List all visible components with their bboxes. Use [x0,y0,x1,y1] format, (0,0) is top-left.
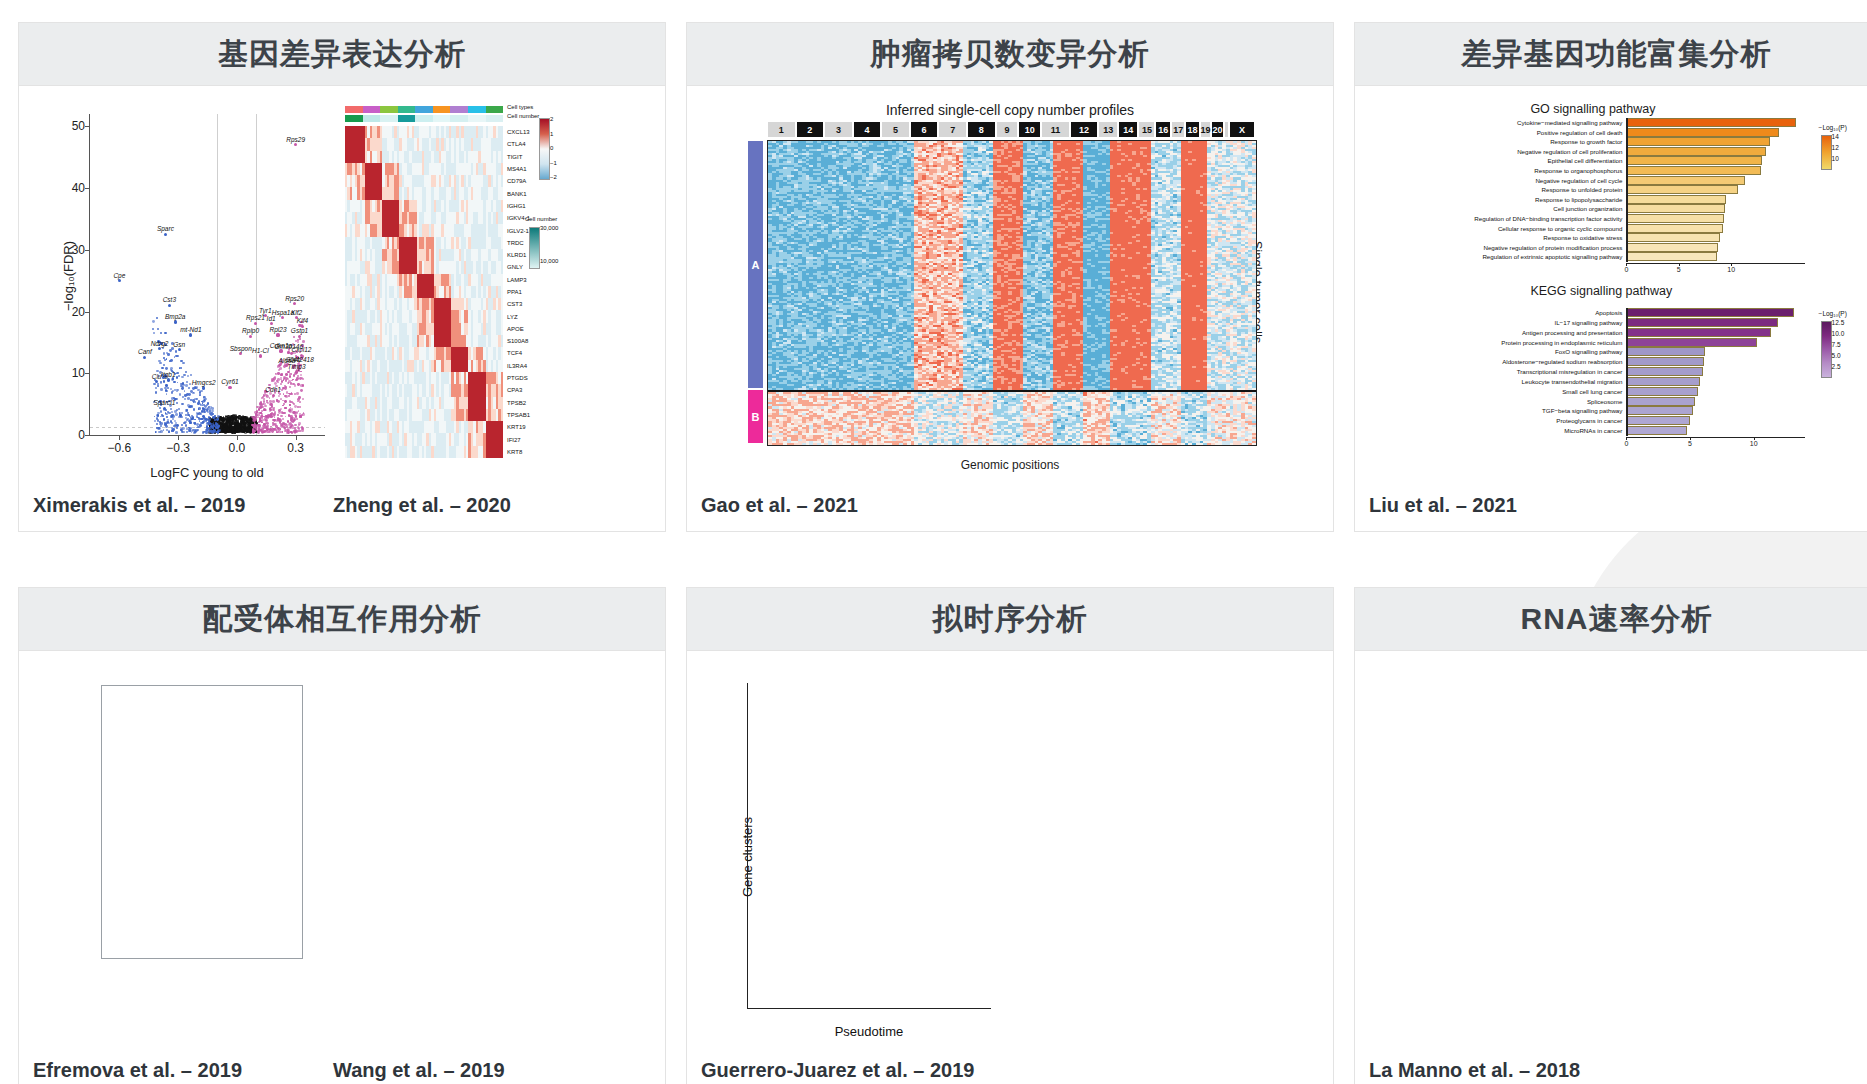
volcano-point [190,422,192,424]
volcano-point [300,374,302,376]
citation-wang: Wang et al. – 2019 [333,1059,505,1082]
volcano-gene-label: Canf [138,348,152,355]
heatmap-row-label: CPA3 [507,387,522,393]
enrichment-category-label: Response to lipopolysaccharide [1535,195,1622,204]
heatmap-cell [501,151,504,163]
volcano-point [190,390,193,393]
cnv-heatmap-matrix [767,140,1257,446]
volcano-labeled-point [239,352,242,355]
card-title: 配受体相互作用分析 [203,599,482,640]
heatmap-row-label: BANK1 [507,191,527,197]
heatmap-row-label: LAMP3 [507,277,527,283]
chromosome-tick: 18 [1185,121,1199,138]
enrichment-x-tick: 10 [1727,266,1735,273]
volcano-point [193,422,195,424]
enrichment-colorbar [1821,135,1832,170]
enrichment-category-label: Transcriptional misregulation in cancer [1517,367,1623,376]
volcano-x-tick: 0.0 [229,441,246,455]
volcano-point [160,332,162,334]
volcano-point [259,412,261,414]
annotation-label-cell-types: Cell types [507,104,533,110]
pseudotime-kinetics-figure [1007,661,1319,1053]
citation-zheng: Zheng et al. – 2020 [333,494,511,517]
volcano-point [294,424,296,426]
volcano-point [297,383,299,385]
enrichment-bar[interactable] [1626,166,1760,175]
enrichment-bar[interactable] [1626,128,1779,137]
volcano-point [245,428,247,430]
volcano-point [187,404,190,407]
enrichment-bar[interactable] [1626,243,1717,252]
enrichment-legend-tick: 14 [1832,133,1839,140]
enrichment-category-label: Response to unfolded protein [1542,185,1623,194]
chromosome-tick: 4 [853,121,882,138]
enrichment-bar-row: Response to lipopolysaccharide [1626,195,1804,204]
volcano-gene-label: Cpe [113,271,125,278]
volcano-point [294,393,296,395]
volcano-point [165,389,167,391]
enrichment-bar-row: Negative regulation of protein modificat… [1626,243,1804,252]
volcano-point [170,420,172,422]
cell-number-tick: 30,000 [540,225,558,231]
volcano-gene-label: Clu [152,372,162,379]
heatmap-cell [501,310,504,322]
volcano-point [178,416,181,419]
volcano-gene-label: Id1 [267,314,276,321]
volcano-point [297,406,299,408]
volcano-point [208,420,210,422]
heatmap-cell [501,237,504,249]
volcano-point [166,393,168,395]
heatmap-row-label: MS4A1 [507,166,527,172]
volcano-point [181,376,184,379]
enrichment-bar[interactable] [1626,147,1765,156]
volcano-point [280,423,282,425]
volcano-point [264,405,267,408]
volcano-point [296,392,298,394]
chromosome-tick: 1 [767,121,796,138]
volcano-point [263,395,266,398]
volcano-gene-label: Gsn [173,340,185,347]
volcano-point [208,406,210,408]
enrichment-bar[interactable] [1626,195,1726,204]
enrichment-bar[interactable] [1626,233,1719,242]
cluster-divider [768,390,1256,392]
card-header: 肿瘤拷贝数变异分析 [687,23,1333,86]
volcano-point [296,418,298,420]
enrichment-colorbar [1821,321,1832,378]
card-ligand-receptor-interaction[interactable]: 配受体相互作用分析 Efremova et al. – 2019 Wang et… [18,587,666,1084]
volcano-point [265,409,267,411]
heatmap-row-label: CD79A [507,178,526,184]
volcano-point [273,429,275,431]
marker-gene-heatmap: Cell types Cell number CXCL13CTLA4TIGITM… [339,96,651,488]
volcano-point [187,375,189,377]
volcano-labeled-point [163,407,166,410]
volcano-point [224,425,226,427]
volcano-gene-label: Hmgcs2 [192,379,216,386]
enrichment-legend-title: −Log₁₀(P) [1819,310,1847,317]
volcano-point [199,394,201,396]
volcano-labeled-point [276,333,279,336]
volcano-point [155,391,157,393]
volcano-point [163,352,165,354]
volcano-point [280,428,282,430]
volcano-labeled-point [281,316,284,319]
enrichment-x-tick: 5 [1677,266,1681,273]
heatmap-row-label: IGHG1 [507,203,526,209]
cell-number-swatch [468,115,486,122]
enrichment-bar-row: Negative regulation of cell proliferatio… [1626,147,1804,156]
enrichment-bar[interactable] [1626,347,1705,356]
volcano-gene-label: Rpl23 [270,325,287,332]
chromosome-tick: X [1229,121,1255,138]
volcano-point [181,412,184,415]
heatmap-cell [501,200,504,212]
enrichment-legend-tick: 7.5 [1832,341,1841,348]
expression-colorbar-tick: 0 [550,145,553,151]
enrichment-legend-tick: 10.0 [1832,330,1845,337]
volcano-point [269,397,271,399]
volcano-point [165,367,168,370]
volcano-point [234,431,237,434]
figure-row: GO signalling pathway Cytokine−mediated … [1369,96,1864,488]
card-body: −log₁₀(FDR) LogFC young to old 010203040… [19,86,665,494]
volcano-point [161,367,164,370]
heatmap-row-label: TCF4 [507,350,522,356]
volcano-gene-label: H1-Cl [252,346,269,353]
volcano-point [218,418,220,420]
volcano-gene-label: Sparcl1 [153,399,175,406]
citation-la-manno: La Manno et al. – 2018 [1369,1059,1580,1082]
enrichment-bar[interactable] [1626,338,1757,347]
volcano-gene-label: Cyr61 [221,378,238,385]
enrichment-x-tick: 0 [1624,440,1628,447]
panel-grid: 基因差异表达分析 −log₁₀(FDR) LogFC young to old … [0,0,1867,1084]
volcano-point [188,387,190,389]
cell-number-swatch [486,115,504,122]
volcano-point [278,395,280,397]
volcano-point [175,431,178,434]
volcano-gene-label: Sbspon [230,344,252,351]
volcano-point [194,419,196,421]
enrichment-bar-row: Spliceosome [1626,397,1804,406]
chromosome-tick: 12 [1070,121,1099,138]
cell-types-annotation-bar [345,106,503,113]
heatmap-cell [501,249,504,261]
volcano-point [177,382,179,384]
cell-type-swatch [345,106,363,113]
enrichment-bar[interactable] [1626,328,1771,337]
enrichment-bar[interactable] [1626,318,1777,327]
card-tumor-copy-number-variation[interactable]: 肿瘤拷贝数变异分析 Inferred single-cell copy numb… [686,22,1334,532]
volcano-point [158,431,161,434]
volcano-point [294,419,296,421]
enrichment-x-axis [1626,263,1804,264]
enrichment-category-label: Cellular response to organic cyclic comp… [1498,224,1623,233]
volcano-point [298,369,300,371]
cell-type-swatch [363,106,381,113]
cnv-figure: Inferred single-cell copy number profile… [701,96,1319,488]
enrichment-bar[interactable] [1626,367,1702,376]
heatmap-row-label: KRT8 [507,449,522,455]
card-body: Inferred single-cell copy number profile… [687,86,1333,494]
volcano-point [277,381,279,383]
enrichment-bar[interactable] [1626,426,1687,435]
cell-number-swatch [450,115,468,122]
heatmap-cell [501,187,504,199]
volcano-point [163,380,166,383]
chromosome-tick: 7 [938,121,967,138]
volcano-point [261,429,263,431]
go-chart-title: GO signalling pathway [1530,102,1655,116]
cell-type-swatch [415,106,433,113]
card-pseudotime-analysis[interactable]: 拟时序分析 Gene clusters Pseudotime [686,587,1334,1084]
volcano-point [158,427,161,430]
card-header: 差异基因功能富集分析 [1355,23,1867,86]
heatmap-row-label: PTGDS [507,375,528,381]
heatmap-row-label: TIGIT [507,154,522,160]
volcano-point [156,423,158,425]
volcano-point [168,431,170,433]
volcano-point [200,404,202,406]
heatmap-cell [501,138,504,150]
volcano-point [171,430,173,432]
volcano-gene-label: Tyr1 [259,306,272,313]
volcano-point [291,380,293,382]
enrichment-category-label: Cytokine−mediated signalling pathway [1517,118,1622,127]
volcano-point [260,406,263,409]
enrichment-bar[interactable] [1626,357,1704,366]
volcano-point [186,381,188,383]
enrichment-bar[interactable] [1626,377,1700,386]
cell-number-annotation-bar [345,115,503,122]
volcano-point [201,410,203,412]
cell-type-swatch [450,106,468,113]
volcano-x-tick: 0.3 [287,441,304,455]
heatmap-row-label: S100A8 [507,338,528,344]
chromosome-tick: 6 [910,121,939,138]
cluster-band-b: B [747,389,764,444]
volcano-x-tick: −0.6 [108,441,132,455]
enrichment-x-tick: 5 [1688,440,1692,447]
enrichment-bar[interactable] [1626,118,1796,127]
volcano-point [197,426,199,428]
volcano-point [214,419,216,421]
enrichment-bar[interactable] [1626,137,1770,146]
enrichment-bar-row: Proteoglycans in cancer [1626,416,1804,425]
volcano-point [176,398,178,400]
enrichment-bar[interactable] [1626,156,1761,165]
kegg-chart-title: KEGG signalling pathway [1530,284,1672,298]
volcano-point [299,401,301,403]
trajectory-x-axis-label: Pseudotime [747,1024,991,1039]
heatmap-cell [501,409,504,421]
heatmap-row-label: KLRD1 [507,252,526,258]
chromosome-tick: 3 [824,121,853,138]
enrichment-bar-row: MicroRNAs in cancer [1626,426,1804,435]
enrichment-category-label: Proteoglycans in cancer [1556,416,1622,425]
volcano-point [299,338,301,340]
volcano-gene-label: Kif4 [297,317,308,324]
heatmap-row-label: APOE [507,326,524,332]
enrichment-category-label: Epithelial cell differentiation [1548,156,1623,165]
cell-type-swatch [398,106,416,113]
enrichment-category-label: Positive regulation of cell death [1537,128,1623,137]
volcano-labeled-point [164,233,167,236]
volcano-point [290,431,292,433]
enrichment-bar[interactable] [1626,252,1716,261]
volcano-point [192,387,195,390]
volcano-point [302,398,304,400]
volcano-y-tick: 40 [72,181,85,195]
enrichment-bar-row: Response to growth factor [1626,137,1804,146]
volcano-x-tick: −0.3 [166,441,190,455]
volcano-point [152,328,154,330]
volcano-point [279,367,282,370]
volcano-point [205,398,207,400]
volcano-labeled-point [294,143,297,146]
enrichment-bar[interactable] [1626,185,1737,194]
volcano-point [169,349,172,352]
enrichment-bar[interactable] [1626,176,1744,185]
enrichment-bar[interactable] [1626,387,1697,396]
enrichment-category-label: TGF−beta signalling pathway [1542,406,1622,415]
volcano-labeled-point [202,386,205,389]
volcano-point [226,421,228,423]
volcano-point [156,317,158,319]
citation-efremova: Efremova et al. – 2019 [33,1059,333,1082]
enrichment-bar[interactable] [1626,416,1690,425]
card-body: GO signalling pathway Cytokine−mediated … [1355,86,1867,494]
card-captions: Liu et al. – 2021 [1355,494,1867,531]
cnv-x-axis-label: Genomic positions [701,458,1319,472]
volcano-point [221,430,223,432]
monocle-trajectory-plot: Gene clusters Pseudotime [701,661,1001,1053]
card-captions: Ximerakis et al. – 2019 Zheng et al. – 2… [19,494,665,531]
volcano-point [203,431,205,433]
enrichment-category-label: Antigen processing and presentation [1522,328,1622,337]
volcano-point [165,384,168,387]
volcano-point [187,397,190,400]
enrichment-category-label: Leukocyte transendothelial migration [1522,377,1623,386]
volcano-gene-label: Cdh1 [265,386,281,393]
volcano-point [170,359,173,362]
chromosome-tick: 10 [1018,121,1041,138]
enrichment-category-label: Response to organophosphorus [1534,166,1622,175]
volcano-point [177,355,179,357]
expression-colorbar-tick: −2 [550,174,557,180]
volcano-point [167,387,169,389]
enrichment-bar-row: Small cell lung cancer [1626,387,1804,396]
volcano-labeled-point [293,302,296,305]
volcano-gene-label: mt-Nd1 [180,325,201,332]
volcano-point [183,422,185,424]
enrichment-bar[interactable] [1626,214,1723,223]
cnv-title: Inferred single-cell copy number profile… [701,102,1319,118]
card-body [19,651,665,1059]
volcano-point [293,336,295,338]
volcano-point [184,390,186,392]
heatmap-row-label: CXCL13 [507,129,530,135]
volcano-point [175,350,178,353]
heatmap-cell [501,384,504,396]
volcano-point [299,430,301,432]
card-title: 差异基因功能富集分析 [1462,34,1772,75]
volcano-point [260,404,262,406]
enrichment-bar-row: FoxO signalling pathway [1626,347,1804,356]
volcano-point [254,418,256,420]
heatmap-row-label: IL3RA4 [507,363,527,369]
volcano-point [175,413,178,416]
volcano-point [282,418,284,420]
enrichment-bar-row: Aldosterone−regulated sodium reabsorptio… [1626,357,1804,366]
heatmap-cell [501,286,504,298]
chromosome-tick: 5 [881,121,910,138]
enrichment-legend-tick: 12.5 [1832,319,1845,326]
volcano-point [302,384,305,387]
enrichment-bar[interactable] [1626,397,1695,406]
enrichment-bar-row: IL−17 signalling pathway [1626,318,1804,327]
card-functional-enrichment[interactable]: 差异基因功能富集分析 GO signalling pathway Cytokin… [1354,22,1867,532]
volcano-point [290,393,293,396]
volcano-gene-label: Klf2 [291,308,302,315]
cell-number-tick: 10,000 [540,258,558,264]
chromosome-tick: 15 [1138,121,1155,138]
cell-number-colorbar [529,227,540,269]
volcano-point [244,431,247,434]
card-gene-differential-expression[interactable]: 基因差异表达分析 −log₁₀(FDR) LogFC young to old … [18,22,666,532]
volcano-gene-label: Cxcl12 [292,346,312,353]
card-title: 基因差异表达分析 [218,34,466,75]
enrichment-bar[interactable] [1626,204,1725,213]
card-captions: La Manno et al. – 2018 [1355,1059,1867,1084]
volcano-point [179,393,181,395]
card-rna-velocity[interactable]: RNA速率分析 La Manno et al. – 2018 [1354,587,1867,1084]
volcano-gene-label: Rps20 [285,294,304,301]
enrichment-bar[interactable] [1626,406,1692,415]
enrichment-category-label: Negative regulation of cell proliferatio… [1517,147,1622,156]
card-captions: Guerrero-Juarez et al. – 2019 [687,1059,1333,1084]
heatmap-cell [501,335,504,347]
volcano-y-tick: 10 [72,366,85,380]
volcano-point [269,428,271,430]
enrichment-category-label: FoxO signalling pathway [1555,347,1622,356]
volcano-point [165,425,168,428]
volcano-threshold-line [256,114,257,435]
heatmap-cell [501,175,504,187]
volcano-point [282,412,285,415]
enrichment-bar-row: Apoptosis [1626,308,1804,317]
volcano-plot-area: 01020304050−0.6−0.30.00.3Rps29SparcCpeCs… [89,114,325,436]
enrichment-category-label: Aldosterone−regulated sodium reabsorptio… [1502,357,1622,366]
enrichment-bar[interactable] [1626,224,1722,233]
volcano-point [173,381,175,383]
volcano-point [285,379,287,381]
velocity-figure [1369,661,1864,1053]
volcano-point [166,416,168,418]
volcano-point [182,386,184,388]
volcano-labeled-point [143,356,146,359]
volcano-point [155,431,157,433]
enrichment-bar[interactable] [1626,308,1794,317]
volcano-point [277,414,279,416]
card-header: 拟时序分析 [687,588,1333,651]
heatmap-cell [501,323,504,335]
volcano-point [162,347,164,349]
volcano-point [184,398,186,400]
volcano-point [160,388,163,391]
